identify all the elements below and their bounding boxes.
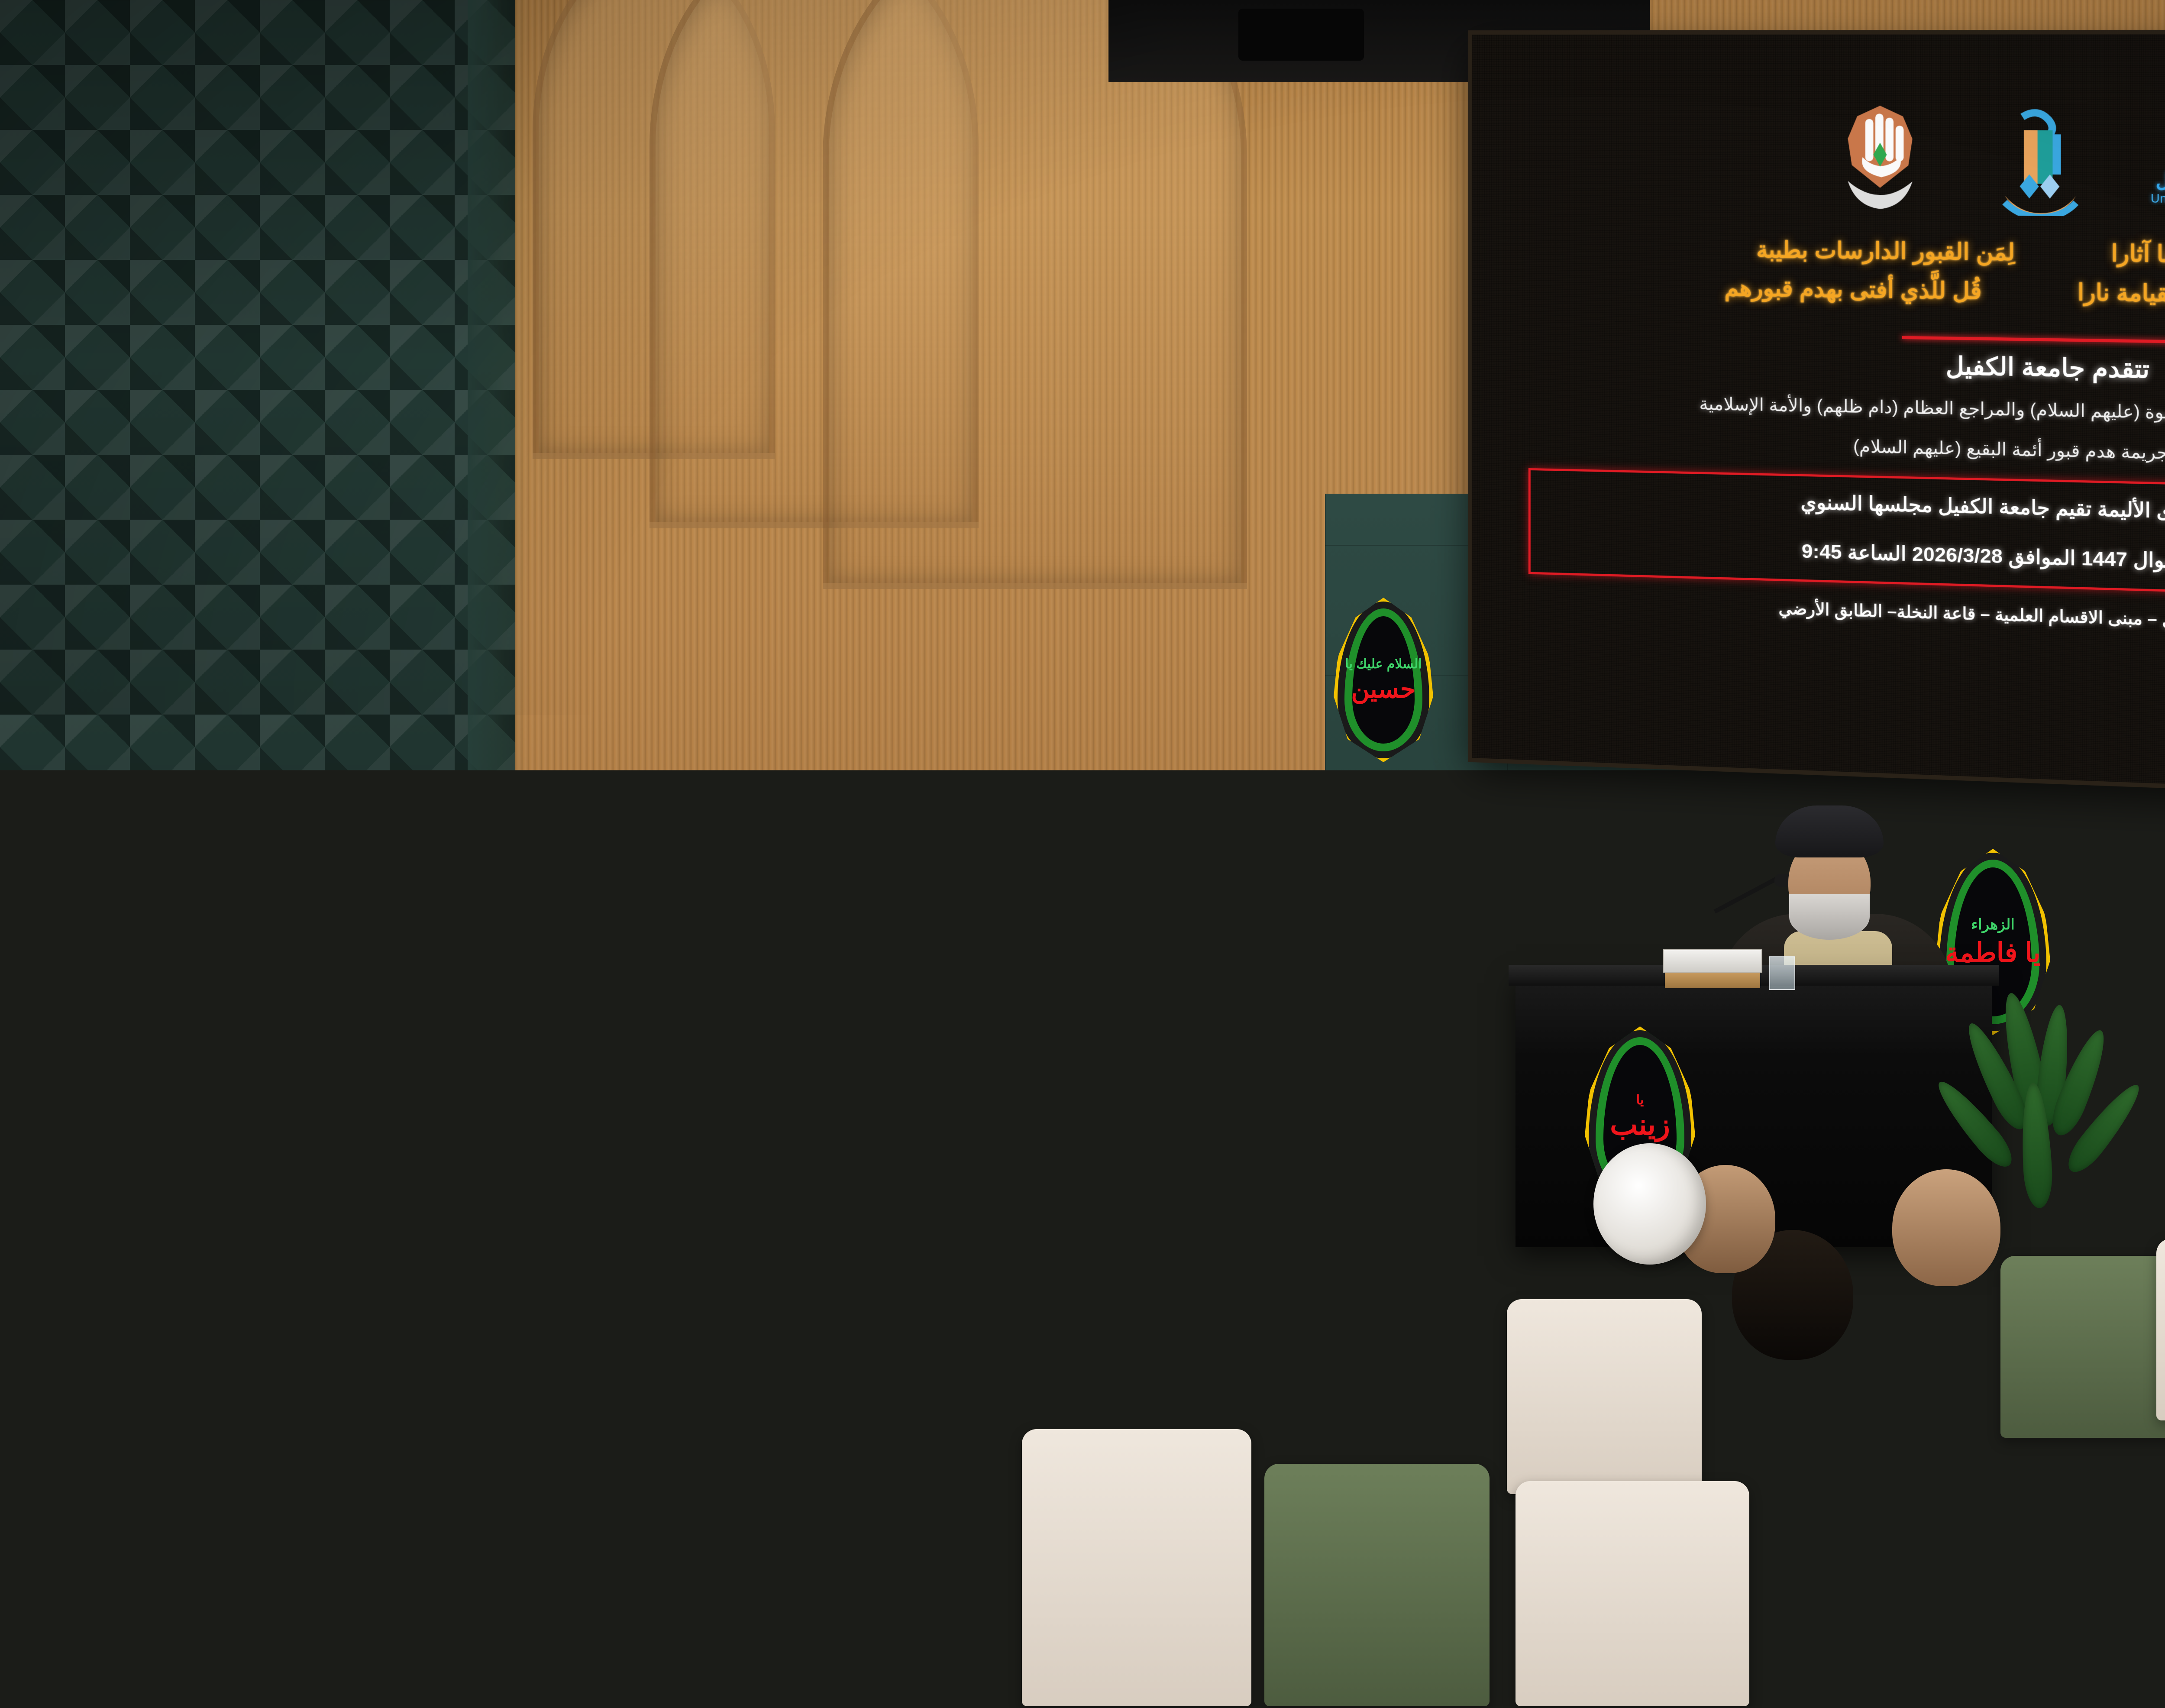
sdg-color-bar <box>277 1687 364 1698</box>
accreditation-banner: QS TEACHING ★ ★ ★ ★ ★ GLOBALLY THE IMPAC… <box>0 1578 2165 1708</box>
the-wordmark: THE <box>375 1663 450 1698</box>
star-icon: ★ <box>43 1660 68 1698</box>
the-impact-rankings-logo: GLOBALLY THE IMPACT RANKINGS <box>200 1631 364 1698</box>
poem-line2-right: قُل للَّذي أفتى بهدم قبورهم <box>1724 269 1981 311</box>
screen-logo-row: جامعة الكفيل University of Alkafeel <box>1511 62 2165 210</box>
water-glass <box>1769 956 1795 990</box>
socket <box>407 871 429 891</box>
tissue-box-stand <box>1665 973 1760 988</box>
star-icon: ★ <box>15 1660 40 1698</box>
alkafeel-flag-emblem-icon: جامعة الكفيل University of Alkafeel <box>1072 964 1123 1062</box>
socket <box>547 868 569 889</box>
screen-title: تتقدم جامعة الكفيل <box>1511 344 2165 392</box>
audience-head <box>675 1078 784 1195</box>
rankings-tag: RANKINGS <box>277 1670 364 1686</box>
audience-head-bald <box>1892 1169 2000 1286</box>
star-icon: ★ <box>100 1660 126 1698</box>
screen-place: المكان : جامعة الكفيل – مبنى الاقسام الع… <box>1511 591 2165 643</box>
locally-chip: LOCALLY <box>1518 1640 1592 1658</box>
greenmetric-sublabel: World University Rankings <box>1176 1689 1268 1698</box>
banner-table-top-text: يا <box>1636 1093 1644 1108</box>
chair-green[interactable] <box>572 1312 766 1503</box>
rur-ring-icon <box>753 1638 814 1698</box>
screen-occasion: في ذكرى جريمة هدم قبور أئمة البقيع (عليه… <box>1511 430 2165 473</box>
banner-table-bottom-text: زينب <box>1610 1108 1670 1142</box>
rur-label: RUR ROUND UNIVERSITY RANKING <box>819 1655 920 1682</box>
chair-beige[interactable] <box>0 1195 152 1377</box>
education-book-emblem-icon <box>890 977 933 1032</box>
chair-beige[interactable] <box>1507 1299 1702 1494</box>
screen-highlight-line1: وفي هذه الذكرى الأليمة تقيم جامعة الكفيل… <box>1544 485 2165 533</box>
screen-poem: عفت لها أهل الشقا آثارا لِمَن القبور الد… <box>1511 228 2165 320</box>
screen-logo-alkafeel: جامعة الكفيل University of Alkafeel <box>2149 63 2165 207</box>
audience-head <box>1338 1256 1459 1386</box>
ieu-logo: IEU <box>1399 1647 1507 1698</box>
white-turban-cleric <box>1593 1143 1706 1265</box>
socket <box>477 870 499 890</box>
banner-left-bottom-text: حسين <box>1351 674 1415 704</box>
open-hand-shrine-icon <box>1843 102 1928 204</box>
globally-chip: GLOBALLY <box>200 1631 284 1649</box>
screen-subtitle: بأسمى آيات العزاء لأهل بيت النبوة (عليهم… <box>1511 386 2165 436</box>
ceiling-speaker-box <box>1238 9 1364 61</box>
screen-highlight-line2: يوم السبت 8 شوال 1447 الموافق 2026/3/28 … <box>1544 533 2165 583</box>
the-small-label: Times Higher Education <box>601 1643 743 1656</box>
screen-logo-scientific-book <box>1986 102 2109 205</box>
the-world-university-rankings-logo: THE WORLD UNIVERSITY RANKINGS <box>375 1648 530 1698</box>
socket <box>454 870 475 890</box>
metric-label: Metric <box>1176 1669 1268 1690</box>
flag-pole <box>1095 1067 1100 1258</box>
banner-right-top-text: الزهراء <box>1971 916 2015 933</box>
qs-mark: QS <box>15 1601 72 1658</box>
banner-left-top-text: السلام عليك يا <box>1345 657 1422 672</box>
university-tag: UNIVERSITY <box>452 1665 530 1681</box>
chair-green[interactable] <box>2000 1256 2165 1438</box>
sustainability-impact-network-logo: Times Higher Education Sustainability Im… <box>542 1643 743 1698</box>
star-icon: ★ <box>72 1660 97 1698</box>
sustainability-label: Sustainability <box>601 1656 743 1677</box>
globe-icon <box>768 1653 799 1684</box>
nrqiu-logo: LOCALLY NRQIU <box>1518 1640 1617 1698</box>
hexagon-network-icon <box>542 1645 594 1697</box>
ui-mark: UI <box>1131 1656 1172 1691</box>
tissue-box <box>1663 949 1762 973</box>
world-tag: WORLD <box>452 1648 530 1664</box>
rur-sublabel: ROUND UNIVERSITY RANKING <box>819 1676 920 1682</box>
ieu-seal-icon <box>1399 1647 1451 1698</box>
audience-head <box>1100 1143 1208 1262</box>
ui-greenmetric-logo: UI Green Metric World University Ranking… <box>1131 1648 1268 1698</box>
rur-ranking-logo: RUR ROUND UNIVERSITY RANKING <box>753 1638 920 1698</box>
nrqiu-label: NRQIU <box>1518 1662 1617 1698</box>
alkafeel-logo-english: University of Alkafeel <box>2149 192 2165 207</box>
qs-star-row: ★ ★ ★ ★ ★ <box>15 1660 189 1698</box>
led-display-screen: جامعة الكفيل University of Alkafeel <box>1472 34 2165 802</box>
screen-logo-abbasiya-shrine <box>1825 101 1946 204</box>
green-label: Green <box>1176 1648 1268 1669</box>
audience-head <box>857 1048 957 1156</box>
multirank-dots-icon: u <box>1279 1634 1388 1668</box>
chair-beige[interactable] <box>779 1282 974 1477</box>
flag-group-left: الله أكبر <box>693 392 1299 834</box>
chair-beige[interactable] <box>342 1256 533 1446</box>
cleric-beard <box>1789 894 1870 940</box>
screen-red-divider <box>1902 336 2165 343</box>
audience-head <box>452 1074 552 1184</box>
chair-beige[interactable] <box>2156 1239 2165 1420</box>
poem-line2-left: أن سوف تصلى في القيامة نارا <box>2078 273 2165 317</box>
socket <box>384 871 405 892</box>
of-universities-label: OF UNIVERSITIES <box>932 1676 1119 1698</box>
webometrics-label: Webometrics <box>932 1635 1119 1653</box>
u-multirank-logo: u multirank <box>1279 1634 1388 1698</box>
qs-category-label: TEACHING <box>77 1631 189 1658</box>
rankings-tag: RANKINGS <box>452 1682 530 1698</box>
ieu-label: IEU <box>1456 1654 1507 1691</box>
poem-line1-left: عفت لها أهل الشقا آثارا <box>2111 234 2165 276</box>
socket <box>430 870 452 891</box>
webometrics-ranking-web-logo: Webometrics RANKING WEB OF UNIVERSITIES <box>932 1635 1119 1698</box>
book-emblem-icon <box>2004 102 2091 205</box>
banner-right-bottom-text: يا فاطمة <box>1945 937 2040 968</box>
socket <box>501 869 522 890</box>
multirank-wordmark: multirank <box>1279 1668 1388 1698</box>
chair-beige[interactable] <box>152 1226 338 1412</box>
conference-hall-room: جامعة الكفيل University of Alkafeel <box>0 0 2165 1708</box>
impact-network-label: Impact Network <box>601 1677 743 1698</box>
qs-stars-rating-logo: QS TEACHING ★ ★ ★ ★ ★ <box>15 1601 189 1698</box>
the-wordmark: THE <box>200 1663 275 1698</box>
ministry-seal-en: Republic of Iraq <box>979 1035 1030 1042</box>
ministry-seal-icon: Republic of Iraq <box>979 977 1030 1042</box>
alkafeel-flag-arabic: جامعة الكفيل <box>1072 1026 1123 1049</box>
cleric-black-turban <box>1775 805 1884 857</box>
alkafeel-flag-english: University of Alkafeel <box>1072 1049 1123 1062</box>
star-icon: ★ <box>129 1660 154 1698</box>
screenshot-root: جامعة الكفيل University of Alkafeel <box>0 0 2165 1708</box>
power-socket-strip <box>381 862 624 897</box>
alkafeel-logo-arabic: جامعة الكفيل <box>2149 169 2165 193</box>
poem-line1-right: لِمَن القبور الدارسات بطيبة <box>1756 230 2015 272</box>
impact-tag: IMPACT <box>277 1653 364 1669</box>
screen-highlight-box: وفي هذه الذكرى الأليمة تقيم جامعة الكفيل… <box>1528 468 2165 604</box>
ranking-web-label: RANKING WEB <box>932 1653 1119 1676</box>
flag-pole <box>1002 1067 1007 1258</box>
